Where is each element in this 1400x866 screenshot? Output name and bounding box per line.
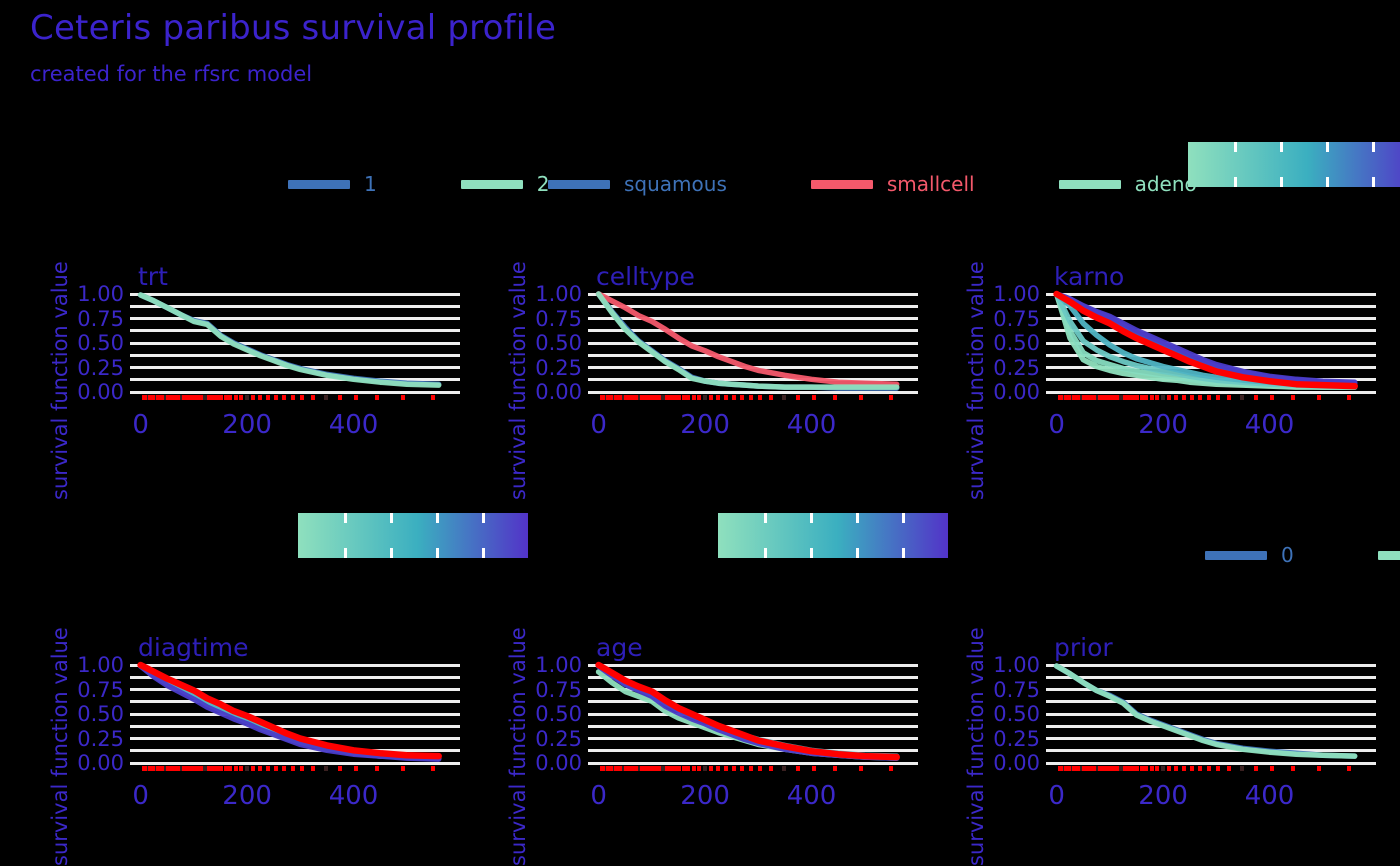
- rug-mark: [665, 766, 669, 771]
- legend-item[interactable]: 10: [1378, 543, 1400, 567]
- y-tick-label: 0.25: [36, 727, 124, 751]
- rug-mark: [1123, 395, 1127, 400]
- rug-mark: [162, 766, 166, 771]
- rug-mark: [142, 395, 146, 400]
- rug-mark: [634, 395, 638, 400]
- rug-mark: [1072, 395, 1076, 400]
- legend-swatch: [811, 180, 873, 189]
- rug-mark: [228, 766, 232, 771]
- rug-mark: [1064, 766, 1068, 771]
- rug-mark: [1140, 395, 1144, 400]
- rug-mark: [692, 766, 696, 771]
- legend-celltype: squamoussmallcelladeno: [548, 172, 1281, 196]
- rug-mark: [1140, 766, 1144, 771]
- legend-item[interactable]: smallcell: [811, 172, 975, 196]
- x-tick-label: 200: [680, 410, 730, 440]
- rug-mark: [631, 766, 635, 771]
- rug-mark: [375, 766, 379, 771]
- rug-mark: [219, 395, 223, 400]
- curve: [141, 666, 439, 759]
- rug-mark: [631, 395, 635, 400]
- curve: [141, 666, 439, 758]
- x-tick-label: 400: [1245, 781, 1295, 811]
- gridline: [130, 700, 460, 703]
- y-tick-label: 0.25: [494, 727, 582, 751]
- rug-mark: [1135, 395, 1139, 400]
- rug-mark: [796, 395, 800, 400]
- rug-mark: [627, 766, 631, 771]
- rug-mark: [251, 766, 255, 771]
- rug-mark: [1161, 395, 1165, 400]
- rug-mark: [652, 766, 656, 771]
- rug-mark: [149, 395, 153, 400]
- rug-mark: [1071, 395, 1075, 400]
- y-axis-label: survival function value: [506, 261, 530, 500]
- gridline: [130, 725, 460, 728]
- rug-mark: [1065, 395, 1069, 400]
- rug-mark: [1123, 766, 1127, 771]
- rug-mark: [686, 766, 690, 771]
- rug-mark: [401, 766, 405, 771]
- curves-prior: [0, 0, 1400, 866]
- rug-mark: [1110, 395, 1114, 400]
- y-tick-label: 1.00: [36, 282, 124, 306]
- colorbar-tick: [344, 513, 347, 523]
- rug-mark: [1317, 395, 1321, 400]
- rug-mark: [1085, 766, 1089, 771]
- rug-mark: [1058, 395, 1062, 400]
- rug-mark: [234, 766, 238, 771]
- rug-mark: [142, 766, 146, 771]
- rug-mark: [1083, 395, 1087, 400]
- colorbar-tick: [902, 548, 905, 558]
- gridline: [1046, 762, 1376, 765]
- rug-mark: [1089, 395, 1093, 400]
- rug-mark: [215, 395, 219, 400]
- rug-mark: [1102, 766, 1106, 771]
- gridline: [588, 725, 918, 728]
- rug-mark: [609, 395, 613, 400]
- rug-mark: [173, 766, 177, 771]
- rug-mark: [1061, 395, 1065, 400]
- y-axis-label: survival function value: [48, 627, 72, 866]
- rug-mark: [889, 395, 893, 400]
- rug-mark: [324, 766, 328, 771]
- rug-mark: [1174, 395, 1178, 400]
- rug-mark: [354, 766, 358, 771]
- rug-mark: [160, 395, 164, 400]
- rug-mark: [1067, 395, 1071, 400]
- rug-mark: [1070, 395, 1074, 400]
- gridline: [130, 713, 460, 716]
- colorbar-tick: [810, 513, 813, 523]
- rug-mark: [673, 766, 677, 771]
- rug-mark: [649, 766, 653, 771]
- gridline: [130, 317, 460, 320]
- y-tick-label: 0.75: [36, 307, 124, 331]
- rug-mark: [621, 766, 625, 771]
- legend-item[interactable]: 0: [1205, 543, 1294, 567]
- rug-mark: [194, 395, 198, 400]
- panel-diagtime: diagtime1.000.750.500.250.00survival fun…: [0, 0, 1400, 866]
- rug-mark: [1182, 766, 1186, 771]
- rug-mark: [619, 766, 623, 771]
- rug-mark: [1080, 395, 1084, 400]
- rug-mark: [732, 395, 736, 400]
- curves-celltype: [0, 0, 1400, 866]
- rug-mark: [1127, 395, 1131, 400]
- rug-mark: [1072, 766, 1076, 771]
- curve: [599, 666, 897, 756]
- rug-mark: [601, 766, 605, 771]
- rug-mark: [1216, 766, 1220, 771]
- rug-mark: [375, 395, 379, 400]
- x-tick-label: 200: [1138, 410, 1188, 440]
- gridline: [1046, 378, 1376, 381]
- colorbar-tick: [1280, 142, 1283, 152]
- rug-mark: [1079, 766, 1083, 771]
- curves-karno: [0, 0, 1400, 866]
- gridline: [1046, 725, 1376, 728]
- rug-mark: [338, 766, 342, 771]
- rug-mark: [1069, 395, 1073, 400]
- rug-mark: [1096, 766, 1100, 771]
- colorbar-tick: [390, 548, 393, 558]
- rug-mark: [625, 766, 629, 771]
- colorbar-age[interactable]: [718, 513, 948, 558]
- rug-mark: [601, 395, 605, 400]
- rug-mark: [1190, 766, 1194, 771]
- rug-mark: [673, 395, 677, 400]
- rug-mark: [697, 395, 701, 400]
- rug-mark: [1116, 395, 1120, 400]
- rug-mark: [612, 395, 616, 400]
- gridline: [588, 293, 918, 296]
- rug-mark: [647, 766, 651, 771]
- legend-swatch: [288, 180, 350, 189]
- y-tick-label: 0.00: [494, 380, 582, 404]
- rug-mark: [617, 395, 621, 400]
- rug-mark: [709, 395, 713, 400]
- rug-mark: [1107, 766, 1111, 771]
- rug-mark: [186, 766, 190, 771]
- y-tick-label: 0.00: [952, 380, 1040, 404]
- rug-mark: [669, 766, 673, 771]
- rug-mark: [143, 766, 147, 771]
- legend-label: adeno: [1135, 172, 1197, 196]
- rug-mark: [148, 395, 152, 400]
- rug-mark: [228, 395, 232, 400]
- rug-mark: [1075, 395, 1079, 400]
- rug-mark: [176, 766, 180, 771]
- rug-mark: [1079, 395, 1083, 400]
- rug-mark: [640, 395, 644, 400]
- gridline: [130, 664, 460, 667]
- rug-mark: [640, 766, 644, 771]
- rug-mark: [1167, 766, 1171, 771]
- rug-mark: [258, 766, 262, 771]
- rug-mark: [1061, 766, 1065, 771]
- rug-mark: [1073, 395, 1077, 400]
- gridline: [588, 342, 918, 345]
- x-tick-label: 200: [222, 410, 272, 440]
- rug-mark: [618, 395, 622, 400]
- rug-mark: [655, 395, 659, 400]
- rug-mark: [619, 395, 623, 400]
- rug-mark: [716, 766, 720, 771]
- legend-item[interactable]: adeno: [1059, 172, 1197, 196]
- rug-mark: [178, 395, 182, 400]
- rug-mark: [152, 395, 156, 400]
- rug-mark: [1144, 766, 1148, 771]
- rug-mark: [156, 766, 160, 771]
- rug-mark: [1207, 766, 1211, 771]
- rug-mark: [661, 766, 665, 771]
- legend-item[interactable]: 1: [288, 172, 377, 196]
- rug-mark: [703, 395, 707, 400]
- rug-mark: [627, 395, 631, 400]
- rug-mark: [154, 395, 158, 400]
- rug-mark: [1080, 766, 1084, 771]
- rug-mark: [300, 766, 304, 771]
- y-tick-label: 0.75: [494, 678, 582, 702]
- rug-mark: [610, 766, 614, 771]
- rug-mark: [401, 395, 405, 400]
- rug-mark: [618, 766, 622, 771]
- rug-mark: [197, 766, 201, 771]
- gridline: [130, 762, 460, 765]
- gridline: [1046, 391, 1376, 394]
- rug-mark: [158, 395, 162, 400]
- rug-mark: [607, 766, 611, 771]
- rug-mark: [1182, 395, 1186, 400]
- colorbar-tick: [1372, 177, 1375, 187]
- rug-mark: [692, 395, 696, 400]
- rug-mark: [431, 395, 435, 400]
- rug-marks: [588, 766, 918, 771]
- rug-mark: [311, 395, 315, 400]
- colorbar-tick: [856, 548, 859, 558]
- x-tick-label: 400: [1245, 410, 1295, 440]
- curves-age: [0, 0, 1400, 866]
- rug-mark: [153, 766, 157, 771]
- gridline: [130, 293, 460, 296]
- rug-mark: [163, 395, 167, 400]
- rug-mark: [1317, 766, 1321, 771]
- curve: [599, 665, 897, 757]
- curve: [1057, 294, 1355, 387]
- y-tick-label: 0.50: [36, 331, 124, 355]
- gridline: [1046, 366, 1376, 369]
- rug-mark: [1198, 395, 1202, 400]
- rug-mark: [628, 395, 632, 400]
- rug-mark: [1227, 766, 1231, 771]
- panel-celltype: celltype1.000.750.500.250.00survival fun…: [0, 0, 1400, 866]
- rug-mark: [605, 395, 609, 400]
- colorbar-diagtime[interactable]: [298, 513, 528, 558]
- rug-mark: [769, 766, 773, 771]
- rug-mark: [1100, 395, 1104, 400]
- rug-mark: [184, 395, 188, 400]
- y-tick-label: 0.00: [494, 751, 582, 775]
- colorbar-tick: [436, 513, 439, 523]
- colorbar-karno[interactable]: [1188, 142, 1400, 187]
- rug-mark: [1089, 766, 1093, 771]
- rug-mark: [732, 766, 736, 771]
- rug-mark: [173, 395, 177, 400]
- rug-mark: [161, 766, 165, 771]
- rug-mark: [782, 766, 786, 771]
- rug-mark: [749, 395, 753, 400]
- rug-mark: [796, 766, 800, 771]
- rug-mark: [149, 766, 153, 771]
- curve: [1057, 294, 1355, 386]
- rug-mark: [300, 395, 304, 400]
- gridline: [130, 688, 460, 691]
- rug-mark: [191, 766, 195, 771]
- x-tick-label: 0: [1048, 781, 1065, 811]
- colorbar-tick: [764, 513, 767, 523]
- rug-mark: [634, 766, 638, 771]
- rug-mark: [203, 395, 207, 400]
- x-tick-label: 200: [680, 781, 730, 811]
- rug-mark: [239, 395, 243, 400]
- rug-mark: [613, 395, 617, 400]
- rug-mark: [1270, 395, 1274, 400]
- rug-mark: [1227, 395, 1231, 400]
- page-subtitle: created for the rfsrc model: [30, 62, 312, 86]
- rug-mark: [716, 395, 720, 400]
- rug-mark: [1116, 766, 1120, 771]
- rug-mark: [1119, 395, 1123, 400]
- rug-mark: [1254, 766, 1258, 771]
- rug-mark: [615, 766, 619, 771]
- rug-mark: [1083, 766, 1087, 771]
- rug-mark: [1090, 395, 1094, 400]
- rug-mark: [184, 766, 188, 771]
- legend-swatch: [548, 180, 610, 189]
- panel-title-prior: prior: [1054, 633, 1113, 662]
- rug-mark: [145, 766, 149, 771]
- curve: [141, 665, 439, 756]
- y-axis-label: survival function value: [48, 261, 72, 500]
- rug-mark: [258, 395, 262, 400]
- rug-mark: [1066, 395, 1070, 400]
- y-tick-label: 0.50: [494, 331, 582, 355]
- gridline: [130, 737, 460, 740]
- rug-mark: [194, 766, 198, 771]
- curve: [1057, 294, 1355, 386]
- rug-mark: [611, 766, 615, 771]
- colorbar-tick: [1234, 177, 1237, 187]
- y-tick-label: 0.00: [36, 751, 124, 775]
- rug-mark: [652, 395, 656, 400]
- legend-item[interactable]: 2: [461, 172, 550, 196]
- rug-mark: [224, 766, 228, 771]
- rug-mark: [622, 766, 626, 771]
- colorbar-tick: [764, 548, 767, 558]
- colorbar-tick: [1372, 142, 1375, 152]
- rug-mark: [239, 766, 243, 771]
- x-tick-label: 0: [590, 410, 607, 440]
- gridline: [588, 317, 918, 320]
- rug-mark: [624, 395, 628, 400]
- rug-mark: [251, 395, 255, 400]
- rug-mark: [647, 395, 651, 400]
- gridline: [1046, 329, 1376, 332]
- rug-mark: [724, 395, 728, 400]
- colorbar-tick: [810, 548, 813, 558]
- rug-mark: [203, 766, 207, 771]
- rug-mark: [1090, 766, 1094, 771]
- rug-mark: [1075, 766, 1079, 771]
- rug-mark: [1065, 395, 1069, 400]
- rug-mark: [200, 395, 204, 400]
- rug-mark: [151, 395, 155, 400]
- rug-mark: [1071, 766, 1075, 771]
- curve: [1057, 666, 1355, 756]
- rug-mark: [166, 766, 170, 771]
- y-tick-label: 0.25: [494, 356, 582, 380]
- rug-mark: [621, 395, 625, 400]
- rug-mark: [174, 766, 178, 771]
- y-tick-label: 1.00: [952, 282, 1040, 306]
- rug-mark: [431, 766, 435, 771]
- gridline: [588, 676, 918, 679]
- legend-item[interactable]: squamous: [548, 172, 727, 196]
- rug-mark: [628, 766, 632, 771]
- rug-mark: [661, 395, 665, 400]
- y-tick-label: 0.50: [952, 331, 1040, 355]
- rug-mark: [740, 395, 744, 400]
- rug-mark: [682, 766, 686, 771]
- colorbar-tick: [1326, 177, 1329, 187]
- rug-mark: [697, 766, 701, 771]
- gridline: [588, 749, 918, 752]
- rug-mark: [1065, 766, 1069, 771]
- rug-mark: [155, 766, 159, 771]
- rug-mark: [311, 766, 315, 771]
- rug-mark: [153, 395, 157, 400]
- x-tick-label: 400: [787, 781, 837, 811]
- rug-mark: [1190, 395, 1194, 400]
- rug-mark: [1094, 395, 1098, 400]
- panel-title-celltype: celltype: [596, 262, 695, 291]
- curve: [599, 672, 897, 758]
- rug-mark: [1270, 766, 1274, 771]
- gridline: [130, 366, 460, 369]
- rug-mark: [613, 766, 617, 771]
- rug-mark: [152, 766, 156, 771]
- rug-mark: [859, 766, 863, 771]
- rug-mark: [614, 766, 618, 771]
- gridline: [588, 354, 918, 357]
- gridline: [1046, 676, 1376, 679]
- rug-mark: [620, 766, 624, 771]
- rug-mark: [1059, 395, 1063, 400]
- gridline: [130, 391, 460, 394]
- curve: [1057, 294, 1355, 382]
- rug-mark: [602, 395, 606, 400]
- rug-mark: [769, 395, 773, 400]
- rug-mark: [703, 766, 707, 771]
- legend-swatch: [1059, 180, 1121, 189]
- rug-mark: [324, 395, 328, 400]
- rug-mark: [1105, 395, 1109, 400]
- rug-mark: [889, 766, 893, 771]
- rug-mark: [167, 395, 171, 400]
- rug-mark: [266, 766, 270, 771]
